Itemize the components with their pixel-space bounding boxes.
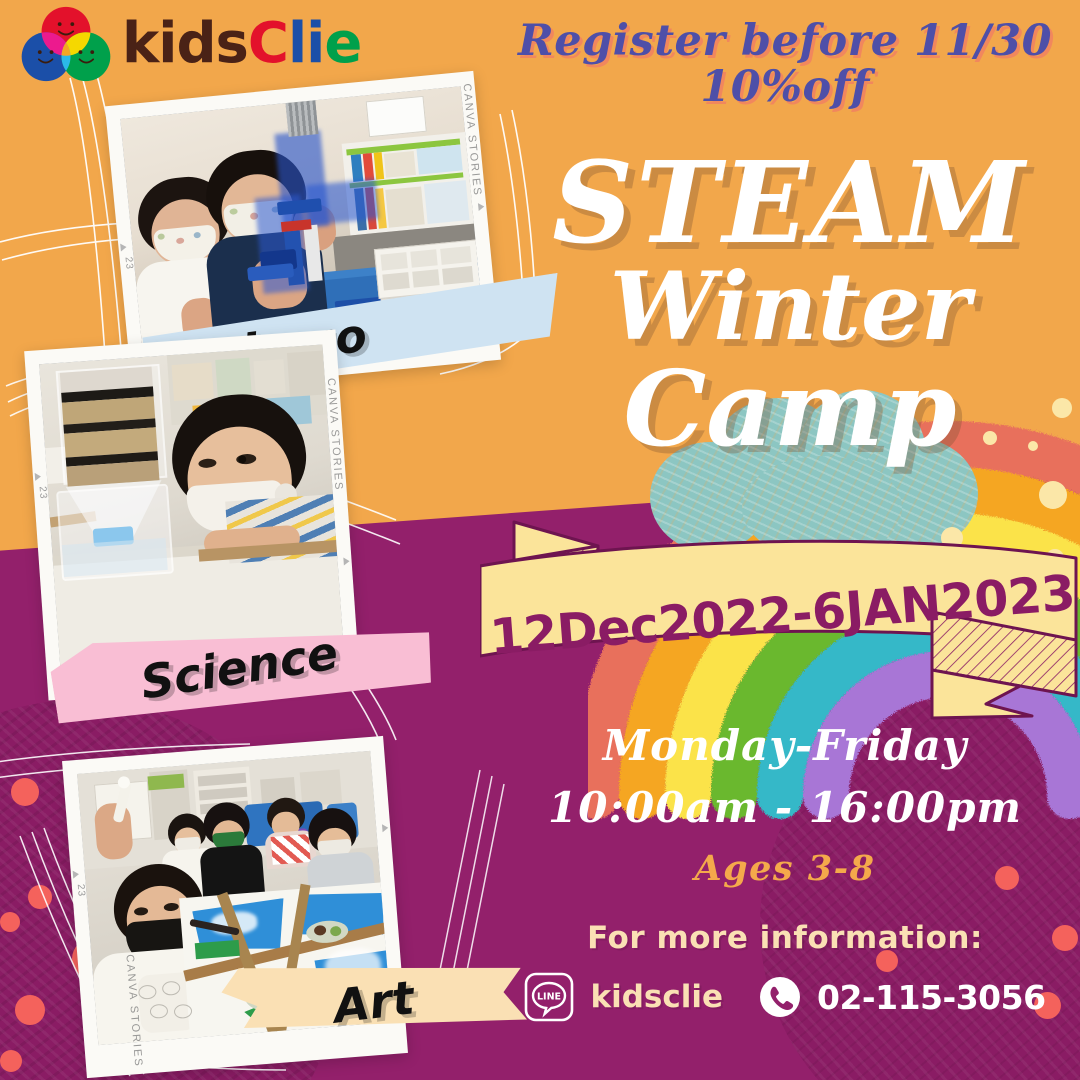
decorative-dot (0, 912, 20, 932)
schedule-ages: Ages 3-8 (500, 848, 1070, 889)
phone-handset-icon (759, 976, 801, 1018)
photo-frame-triangle (120, 243, 127, 252)
line-icon-label: LINE (537, 991, 561, 1002)
poster-root: kidsClie Register before 11/30 10%off ST… (0, 0, 1080, 1080)
photo-frame-triangle (478, 203, 485, 212)
promo-line-1: Register before 11/30 (500, 18, 1070, 64)
brand-wordmark: kidsClie (122, 16, 361, 72)
wordmark-l: l (288, 11, 306, 76)
decorative-dot (15, 995, 45, 1025)
decorative-dot (11, 778, 39, 806)
date-ribbon: 12Dec2022-6JAN2023 (480, 500, 1080, 720)
brand-logo[interactable]: kidsClie (18, 6, 361, 82)
date-ribbon-text: 12Dec2022-6JAN2023 (475, 482, 1080, 747)
phone-number-text[interactable]: 02-115-3056 (817, 978, 1046, 1017)
contact-heading: For more information: (500, 920, 1070, 956)
contact-row: LINE kidsclie 02-115-3056 (500, 972, 1070, 1022)
photo-frame-mark: 23 (37, 486, 49, 500)
photo-frame-triangle (35, 472, 42, 480)
photo-frame-triangle (382, 824, 389, 832)
wordmark-i: i (306, 11, 324, 76)
title-line-camp: Camp (500, 357, 1080, 461)
promo-headline: Register before 11/30 10%off (500, 18, 1070, 111)
photo-frame-triangle (73, 870, 80, 878)
wordmark-kids: kids (122, 11, 248, 76)
contact-block: For more information: LINE kidsclie 02-1… (500, 920, 1070, 1022)
photo-frame-mark: 23 (75, 884, 87, 898)
title-line-steam: STEAM (500, 150, 1080, 258)
three-circles-smiley-logo-icon (18, 6, 114, 82)
photo-frame-triangle (343, 557, 350, 565)
decorative-dot (28, 885, 52, 909)
promo-line-2: 10%off (500, 64, 1070, 110)
wordmark-c: C (248, 11, 288, 76)
decorative-dot (0, 1050, 22, 1072)
wordmark-e: e (324, 11, 361, 76)
line-id-text[interactable]: kidsclie (590, 979, 723, 1015)
title-line-winter: Winter (500, 260, 1080, 356)
schedule-block: Monday-Friday 10:00am - 16:00pm Ages 3-8 (500, 718, 1070, 889)
line-app-icon[interactable]: LINE (524, 972, 574, 1022)
photo-frame-mark: 23 (123, 256, 135, 270)
main-title: STEAM Winter Camp (500, 150, 1080, 461)
schedule-time: 10:00am - 16:00pm (500, 775, 1070, 840)
schedule-days: Monday-Friday (500, 718, 1070, 775)
